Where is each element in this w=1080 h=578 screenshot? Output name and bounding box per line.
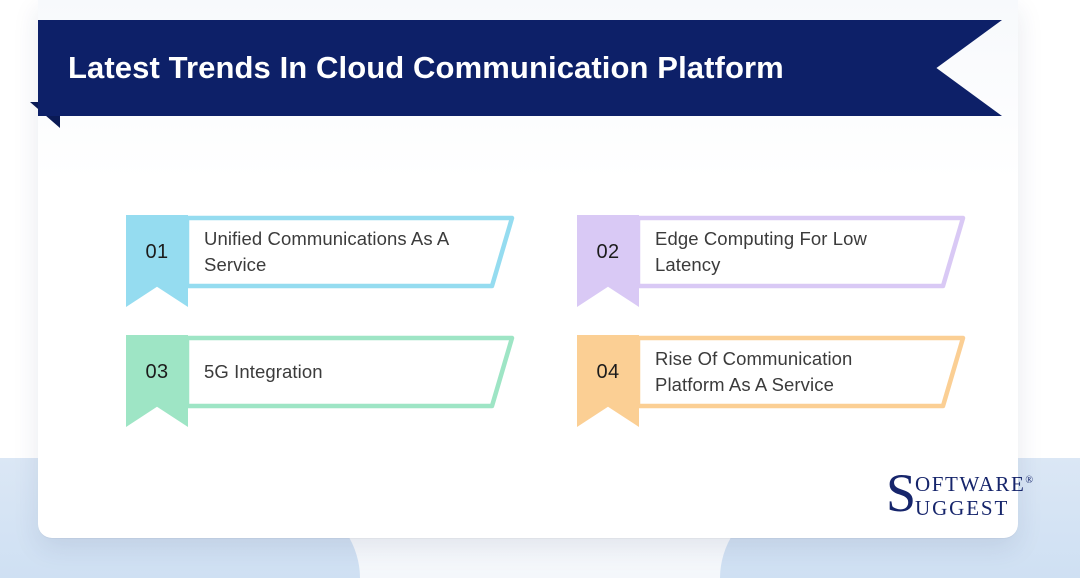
trend-number: 04 [577,335,639,409]
registered-trademark-icon: ® [1025,475,1033,486]
trends-grid: 01 Unified Communications As A Service 0… [126,215,966,455]
trend-label: Edge Computing For Low Latency [655,215,927,289]
trend-body: Edge Computing For Low Latency [635,215,966,289]
trend-body: Unified Communications As A Service [184,215,515,289]
trend-label: Unified Communications As A Service [204,215,476,289]
page-title: Latest Trends In Cloud Communication Pla… [68,20,784,116]
trend-number: 01 [126,215,188,289]
trend-card-04[interactable]: 04 Rise Of Communication Platform As A S… [577,335,966,427]
trends-row-1: 01 Unified Communications As A Service 0… [126,215,966,307]
header-banner: Latest Trends In Cloud Communication Pla… [30,20,1002,120]
trend-number: 02 [577,215,639,289]
logo-initial: S [886,466,916,520]
logo-line-suggest: UGGEST [915,496,1009,521]
softwaresuggest-logo: S OFTWARE® UGGEST [886,468,1026,526]
trend-number: 03 [126,335,188,409]
logo-line-software: OFTWARE® [915,472,1033,497]
infographic-canvas: Latest Trends In Cloud Communication Pla… [0,0,1080,578]
trend-label: Rise Of Communication Platform As A Serv… [655,335,927,409]
trend-card-02[interactable]: 02 Edge Computing For Low Latency [577,215,966,307]
trend-body: 5G Integration [184,335,515,409]
trend-label: 5G Integration [204,335,476,409]
trend-body: Rise Of Communication Platform As A Serv… [635,335,966,409]
trend-card-01[interactable]: 01 Unified Communications As A Service [126,215,515,307]
logo-software-text: OFTWARE [915,472,1025,496]
trends-row-2: 03 5G Integration 04 Rise Of Communicati… [126,335,966,427]
trend-card-03[interactable]: 03 5G Integration [126,335,515,427]
